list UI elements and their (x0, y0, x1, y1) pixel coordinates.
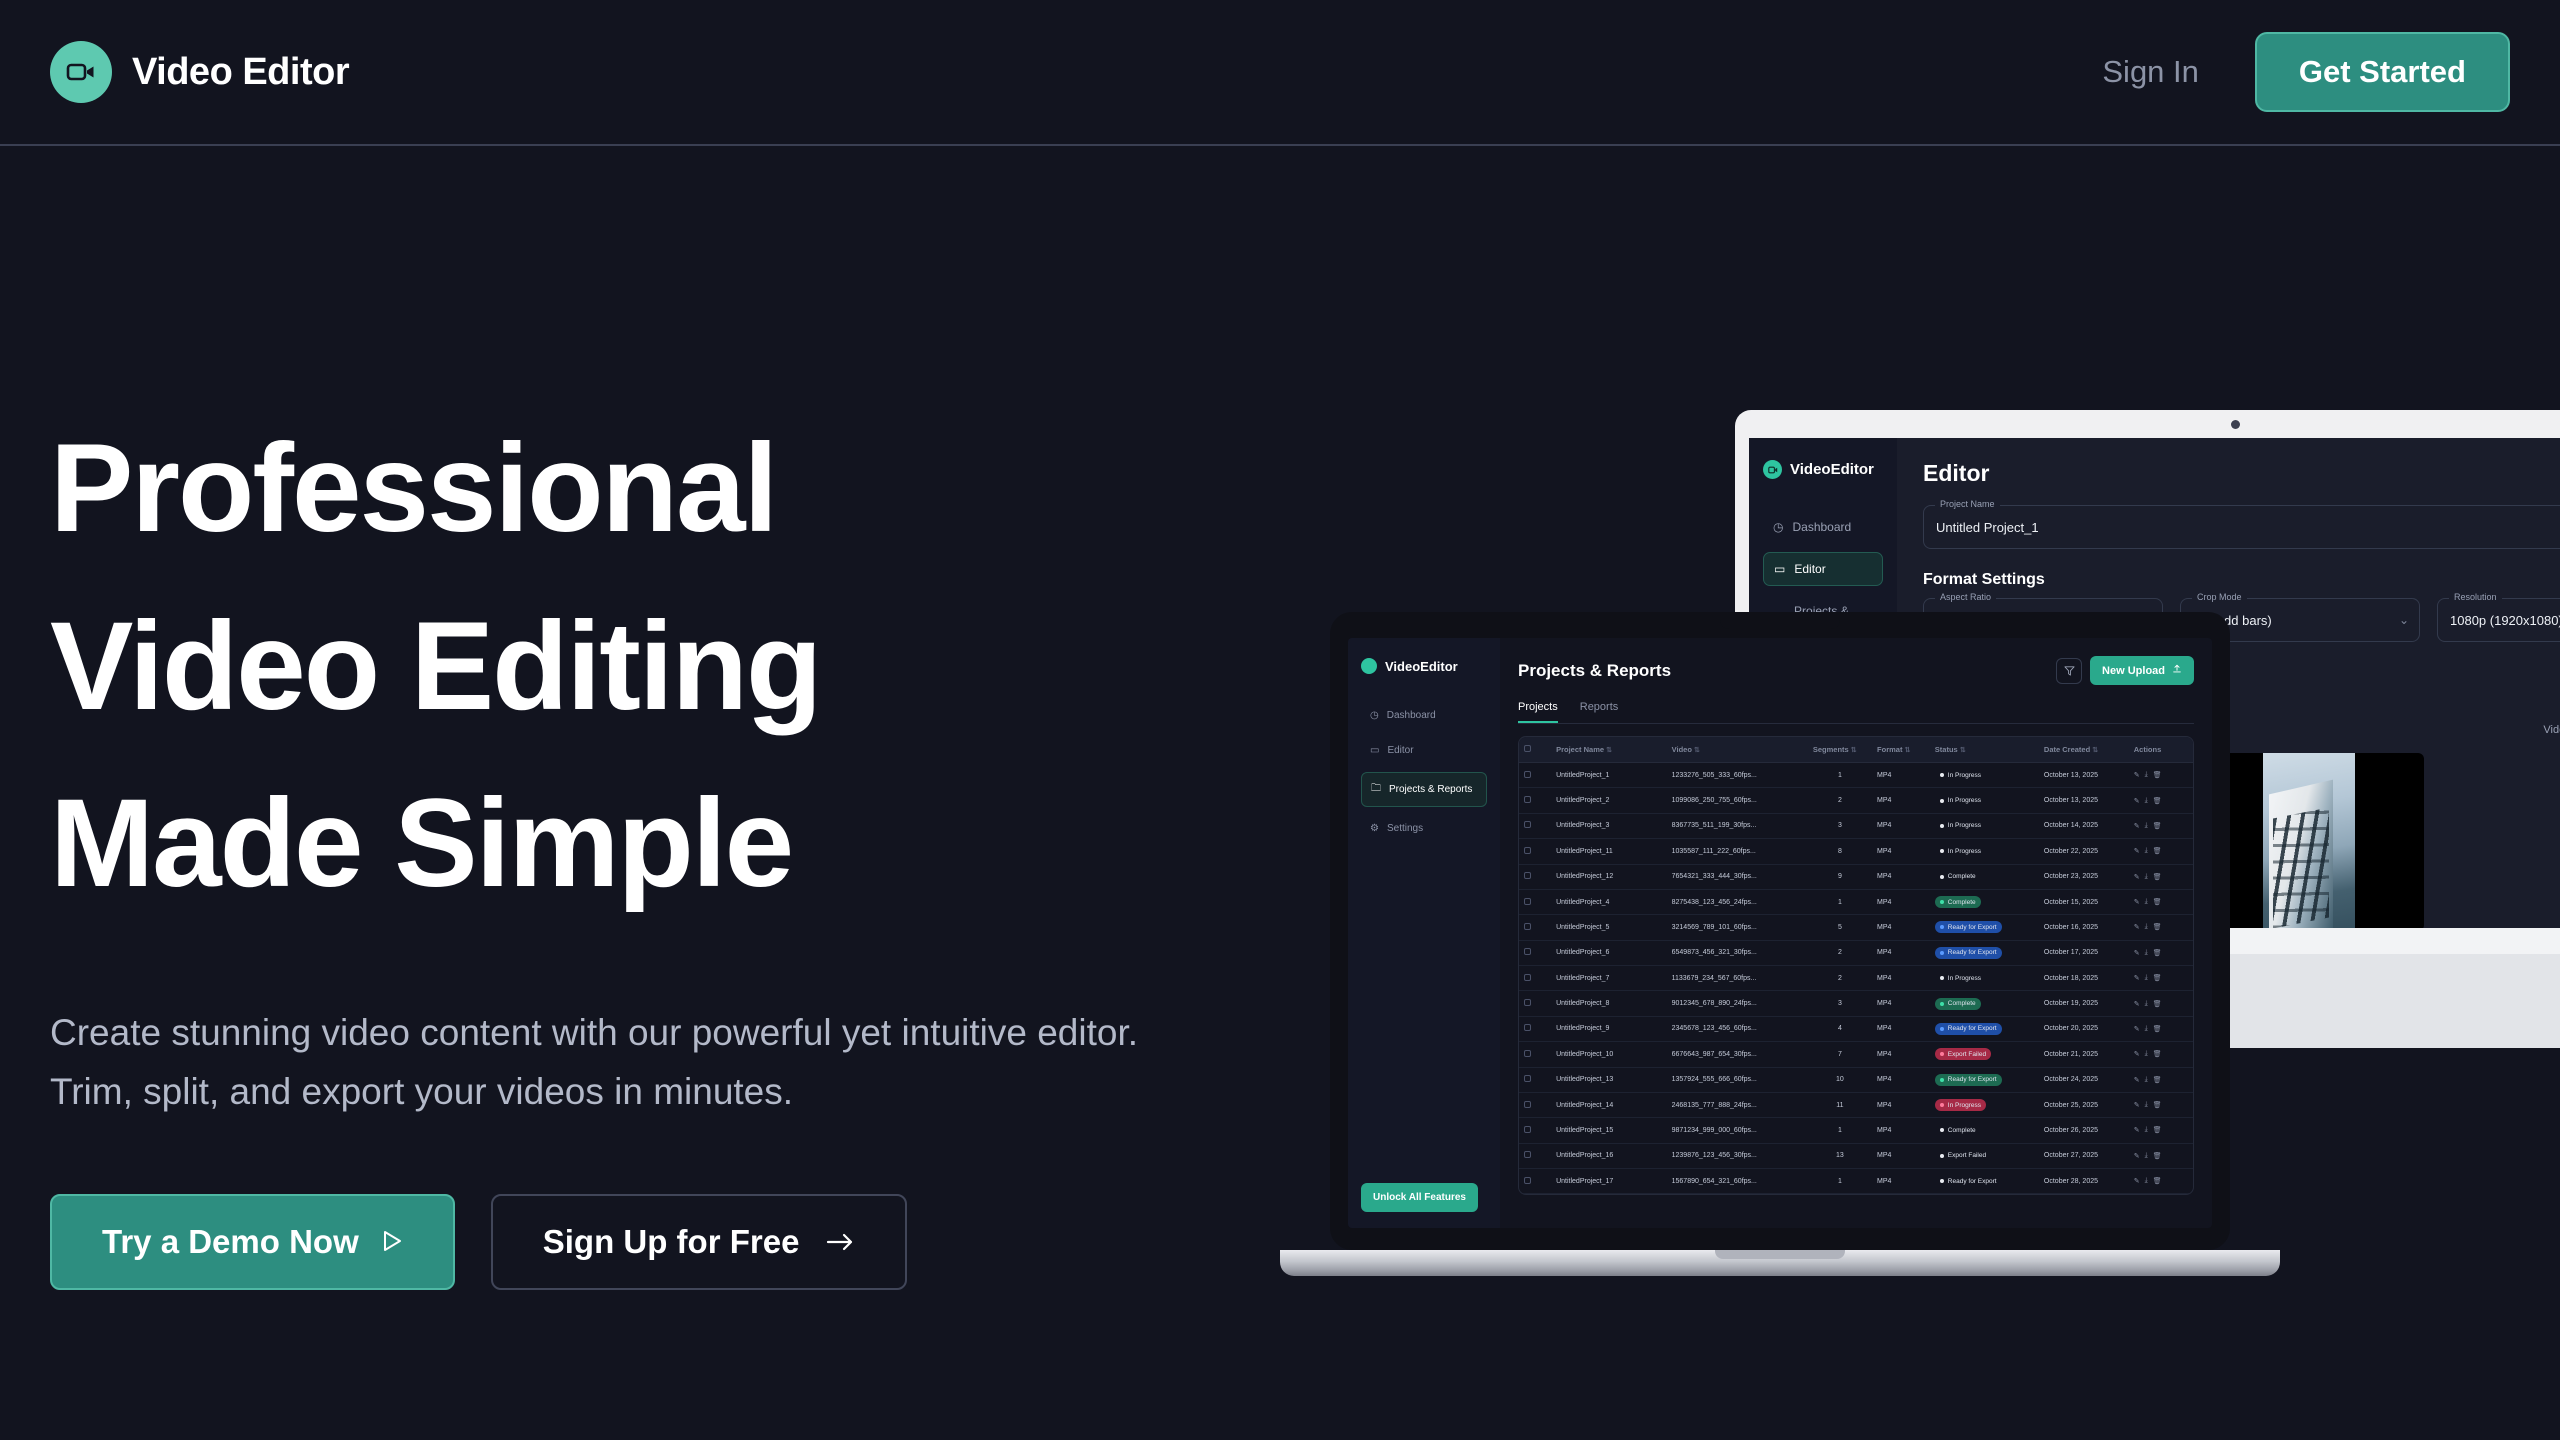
select-all-checkbox[interactable] (1524, 745, 1531, 752)
table-row[interactable]: UntitledProject_71133679_234_567_60fps..… (1519, 966, 2193, 991)
hero-cta-group: Try a Demo Now Sign Up for Free (50, 1194, 1150, 1290)
resolution-select[interactable]: Resolution 1080p (1920x1080) ⌄ (2437, 598, 2560, 642)
laptop-base (1280, 1250, 2280, 1276)
row-checkbox[interactable] (1524, 1126, 1531, 1133)
cell-format: MP4 (1872, 1042, 1930, 1067)
cell-format: MP4 (1872, 966, 1930, 991)
cell-actions: ✎⤓🗑 (2129, 1042, 2193, 1067)
select-all-checkbox-header[interactable] (1519, 737, 1551, 763)
video-camera-icon: ▭ (1370, 745, 1379, 756)
table-row[interactable]: UntitledProject_66549873_456_321_30fps..… (1519, 940, 2193, 965)
play-triangle-icon (381, 1223, 403, 1261)
sort-icon[interactable]: ⇅ (1606, 747, 1612, 754)
cell-video: 1567890_654_321_60fps... (1667, 1169, 1808, 1194)
cell-actions: ✎⤓🗑 (2129, 1143, 2193, 1168)
status-badge: Ready for Export (1935, 1023, 2002, 1035)
edit-icon[interactable]: ✎ (2134, 1076, 2140, 1084)
row-checkbox-cell[interactable] (1519, 889, 1551, 914)
download-icon[interactable]: ⤓ (2145, 1101, 2148, 1109)
download-icon[interactable]: ⤓ (2145, 898, 2148, 906)
cell-format: MP4 (1872, 1143, 1930, 1168)
table-row[interactable]: UntitledProject_106676643_987_654_30fps.… (1519, 1042, 2193, 1067)
cell-project-name: UntitledProject_17 (1551, 1169, 1667, 1194)
status-badge: Ready for Export (1935, 921, 2002, 933)
download-icon[interactable]: ⤓ (2145, 847, 2148, 855)
download-icon[interactable]: ⤓ (2145, 949, 2148, 957)
project-name-label: Project Name (1935, 499, 2000, 509)
download-icon[interactable]: ⤓ (2145, 797, 2148, 805)
sort-icon[interactable]: ⇅ (1960, 747, 1966, 754)
edit-icon[interactable]: ✎ (2134, 822, 2140, 830)
table-row[interactable]: UntitledProject_161239876_123_456_30fps.… (1519, 1143, 2193, 1168)
product-mockup-stage: VideoEditor ◷ Dashboard ▭ Editor 🗀 Proje… (1330, 380, 2560, 1280)
status-dot-icon (1940, 1002, 1944, 1006)
delete-icon[interactable]: 🗑 (2153, 949, 2162, 957)
cell-status: Complete (1930, 864, 2039, 889)
sign-up-free-button[interactable]: Sign Up for Free (491, 1194, 908, 1290)
cell-format: MP4 (1872, 1118, 1930, 1143)
cell-date-created: October 13, 2025 (2039, 763, 2129, 788)
sign-in-link[interactable]: Sign In (2102, 54, 2199, 90)
cell-status: In Progress (1930, 813, 2039, 838)
delete-icon[interactable]: 🗑 (2153, 1152, 2162, 1160)
delete-icon[interactable]: 🗑 (2153, 1000, 2162, 1008)
projects-main-panel: Projects & Reports New Upload (1500, 638, 2212, 1228)
cell-video: 1099086_250_755_60fps... (1667, 788, 1808, 813)
status-dot-icon (1940, 1078, 1944, 1082)
chevron-down-icon: ⌄ (2399, 613, 2409, 627)
edit-icon[interactable]: ✎ (2134, 1025, 2140, 1033)
cell-actions: ✎⤓🗑 (2129, 915, 2193, 940)
delete-icon[interactable]: 🗑 (2153, 822, 2162, 830)
cell-status: Ready for Export (1930, 1016, 2039, 1041)
cell-video: 1133679_234_567_60fps... (1667, 966, 1808, 991)
cell-format: MP4 (1872, 1092, 1930, 1117)
sidebar-item-dashboard[interactable]: ◷ Dashboard (1361, 702, 1487, 729)
edit-icon[interactable]: ✎ (2134, 771, 2140, 779)
cell-segments: 2 (1808, 966, 1872, 991)
edit-icon[interactable]: ✎ (2134, 847, 2140, 855)
crop-mode-label: Crop Mode (2192, 592, 2247, 602)
cell-segments: 1 (1808, 1118, 1872, 1143)
table-row[interactable]: UntitledProject_21099086_250_755_60fps..… (1519, 788, 2193, 813)
delete-icon[interactable]: 🗑 (2153, 898, 2162, 906)
cell-actions: ✎⤓🗑 (2129, 1169, 2193, 1194)
status-badge: In Progress (1935, 845, 1986, 857)
cell-format: MP4 (1872, 839, 1930, 864)
video-player-size-control[interactable]: Video player size (2543, 724, 2560, 736)
edit-icon[interactable]: ✎ (2134, 1050, 2140, 1058)
header-actions: Sign In Get Started (2102, 32, 2510, 112)
cell-actions: ✎⤓🗑 (2129, 864, 2193, 889)
projects-tabs: Projects Reports (1518, 701, 2194, 724)
cell-project-name: UntitledProject_3 (1551, 813, 1667, 838)
row-checkbox-cell[interactable] (1519, 1067, 1551, 1092)
edit-icon[interactable]: ✎ (2134, 1152, 2140, 1160)
unlock-all-features-button[interactable]: Unlock All Features (1361, 1183, 1478, 1212)
row-checkbox[interactable] (1524, 1101, 1531, 1108)
column-header-actions[interactable]: Actions (2129, 737, 2193, 763)
cell-date-created: October 17, 2025 (2039, 940, 2129, 965)
cell-actions: ✎⤓🗑 (2129, 991, 2193, 1016)
sort-icon[interactable]: ⇅ (1694, 747, 1700, 754)
sidebar-item-dashboard[interactable]: ◷ Dashboard (1763, 511, 1883, 543)
cell-actions: ✎⤓🗑 (2129, 889, 2193, 914)
cell-status: Complete (1930, 889, 2039, 914)
status-dot-icon (1940, 1128, 1944, 1132)
cell-date-created: October 16, 2025 (2039, 915, 2129, 940)
video-camera-icon (1361, 658, 1377, 674)
sidebar-item-editor[interactable]: ▭ Editor (1361, 737, 1487, 764)
download-icon[interactable]: ⤓ (2145, 923, 2148, 931)
cell-segments: 4 (1808, 1016, 1872, 1041)
row-checkbox-cell[interactable] (1519, 991, 1551, 1016)
cell-format: MP4 (1872, 940, 1930, 965)
delete-icon[interactable]: 🗑 (2153, 847, 2162, 855)
table-row[interactable]: UntitledProject_127654321_333_444_30fps.… (1519, 864, 2193, 889)
laptop-base-notch (1715, 1250, 1845, 1259)
row-checkbox-cell[interactable] (1519, 966, 1551, 991)
edit-icon[interactable]: ✎ (2134, 1101, 2140, 1109)
status-badge: Ready for Export (1935, 1074, 2002, 1086)
cell-format: MP4 (1872, 763, 1930, 788)
row-checkbox[interactable] (1524, 923, 1531, 930)
status-badge: Complete (1935, 871, 1981, 883)
row-checkbox-cell[interactable] (1519, 1042, 1551, 1067)
cell-project-name: UntitledProject_15 (1551, 1118, 1667, 1143)
delete-icon[interactable]: 🗑 (2153, 1101, 2162, 1109)
table-row[interactable]: UntitledProject_159871234_999_000_60fps.… (1519, 1118, 2193, 1143)
table-row[interactable]: UntitledProject_92345678_123_456_60fps..… (1519, 1016, 2193, 1041)
sort-icon[interactable]: ⇅ (1905, 747, 1911, 754)
download-icon[interactable]: ⤓ (2145, 974, 2148, 982)
cell-video: 1239876_123_456_30fps... (1667, 1143, 1808, 1168)
cell-project-name: UntitledProject_7 (1551, 966, 1667, 991)
cell-segments: 1 (1808, 1169, 1872, 1194)
table-row[interactable]: UntitledProject_131357924_555_666_60fps.… (1519, 1067, 2193, 1092)
cell-format: MP4 (1872, 915, 1930, 940)
table-row[interactable]: UntitledProject_89012345_678_890_24fps..… (1519, 991, 2193, 1016)
cell-project-name: UntitledProject_4 (1551, 889, 1667, 914)
hero-subtitle: Create stunning video content with our p… (50, 1003, 1150, 1123)
folder-icon: 🗀 (1371, 781, 1381, 798)
cell-actions: ✎⤓🗑 (2129, 1118, 2193, 1143)
sidebar-item-label: Projects & Reports (1389, 784, 1472, 795)
cell-video: 2468135_777_888_24fps... (1667, 1092, 1808, 1117)
column-header-project-name[interactable]: Project Name ⇅ (1551, 737, 1667, 763)
cell-actions: ✎⤓🗑 (2129, 813, 2193, 838)
delete-icon[interactable]: 🗑 (2153, 1126, 2162, 1134)
status-dot-icon (1940, 976, 1944, 980)
cell-status: Complete (1930, 1118, 2039, 1143)
edit-icon[interactable]: ✎ (2134, 1126, 2140, 1134)
row-checkbox[interactable] (1524, 771, 1531, 778)
download-icon[interactable]: ⤓ (2145, 1126, 2148, 1134)
projects-toolbar: New Upload (2056, 656, 2194, 685)
row-checkbox-cell[interactable] (1519, 788, 1551, 813)
status-dot-icon (1940, 1179, 1944, 1183)
cell-actions: ✎⤓🗑 (2129, 1016, 2193, 1041)
delete-icon[interactable]: 🗑 (2153, 873, 2162, 881)
delete-icon[interactable]: 🗑 (2153, 1050, 2162, 1058)
edit-icon[interactable]: ✎ (2134, 1177, 2140, 1185)
cell-video: 9871234_999_000_60fps... (1667, 1118, 1808, 1143)
table-row[interactable]: UntitledProject_11233276_505_333_60fps..… (1519, 763, 2193, 788)
tab-projects[interactable]: Projects (1518, 701, 1558, 723)
aspect-ratio-label: Aspect Ratio (1935, 592, 1996, 602)
cell-actions: ✎⤓🗑 (2129, 763, 2193, 788)
project-name-field[interactable]: Project Name Untitled Project_1 (1923, 505, 2560, 549)
table-row[interactable]: UntitledProject_111035587_111_222_60fps.… (1519, 839, 2193, 864)
cell-video: 9012345_678_890_24fps... (1667, 991, 1808, 1016)
get-started-button[interactable]: Get Started (2255, 32, 2510, 112)
laptop-lid: VideoEditor ◷ Dashboard ▭ Editor 🗀 Proje… (1330, 612, 2230, 1250)
cell-segments: 11 (1808, 1092, 1872, 1117)
cell-date-created: October 14, 2025 (2039, 813, 2129, 838)
sort-icon[interactable]: ⇅ (2092, 747, 2098, 754)
cell-date-created: October 20, 2025 (2039, 1016, 2129, 1041)
delete-icon[interactable]: 🗑 (2153, 797, 2162, 805)
cell-format: MP4 (1872, 1067, 1930, 1092)
table-row[interactable]: UntitledProject_38367735_511_199_30fps..… (1519, 813, 2193, 838)
gear-icon: ⚙ (1370, 823, 1379, 834)
editor-app-logo: VideoEditor (1763, 460, 1883, 479)
download-icon[interactable]: ⤓ (2145, 1177, 2148, 1185)
column-header-video[interactable]: Video ⇅ (1667, 737, 1808, 763)
cell-segments: 3 (1808, 813, 1872, 838)
row-checkbox-cell[interactable] (1519, 1118, 1551, 1143)
cell-format: MP4 (1872, 813, 1930, 838)
status-badge: Complete (1935, 998, 1981, 1010)
upload-icon (2172, 664, 2182, 677)
page-title: Professional Video Editing Made Simple (50, 400, 1150, 933)
sidebar-item-label: Editor (1794, 562, 1825, 576)
cell-video: 1357924_555_666_60fps... (1667, 1067, 1808, 1092)
cell-date-created: October 21, 2025 (2039, 1042, 2129, 1067)
cell-format: MP4 (1872, 788, 1930, 813)
cell-project-name: UntitledProject_1 (1551, 763, 1667, 788)
cell-video: 2345678_123_456_60fps... (1667, 1016, 1808, 1041)
filter-icon[interactable] (2056, 658, 2082, 684)
cell-format: MP4 (1872, 1169, 1930, 1194)
cell-date-created: October 19, 2025 (2039, 991, 2129, 1016)
status-dot-icon (1940, 925, 1944, 929)
row-checkbox-cell[interactable] (1519, 864, 1551, 889)
cell-status: In Progress (1930, 1092, 2039, 1117)
table-row[interactable]: UntitledProject_53214569_789_101_60fps..… (1519, 915, 2193, 940)
row-checkbox-cell[interactable] (1519, 1169, 1551, 1194)
sign-up-label: Sign Up for Free (543, 1223, 800, 1261)
cell-date-created: October 23, 2025 (2039, 864, 2129, 889)
table-header-row: Project Name ⇅Video ⇅Segments ⇅Format ⇅S… (1519, 737, 2193, 763)
hero-title-line-2: Video Editing (50, 578, 1150, 756)
cell-date-created: October 28, 2025 (2039, 1169, 2129, 1194)
table-row[interactable]: UntitledProject_171567890_654_321_60fps.… (1519, 1169, 2193, 1194)
sidebar-item-label: Dashboard (1387, 710, 1436, 721)
cell-segments: 10 (1808, 1067, 1872, 1092)
delete-icon[interactable]: 🗑 (2153, 1076, 2162, 1084)
sidebar-item-settings[interactable]: ⚙ Settings (1361, 815, 1487, 842)
cell-project-name: UntitledProject_13 (1551, 1067, 1667, 1092)
row-checkbox[interactable] (1524, 898, 1531, 905)
row-checkbox-cell[interactable] (1519, 1016, 1551, 1041)
sidebar-item-label: Settings (1387, 823, 1423, 834)
row-checkbox-cell[interactable] (1519, 839, 1551, 864)
edit-icon[interactable]: ✎ (2134, 797, 2140, 805)
try-demo-label: Try a Demo Now (102, 1223, 359, 1261)
download-icon[interactable]: ⤓ (2145, 873, 2148, 881)
row-checkbox[interactable] (1524, 1151, 1531, 1158)
status-badge: Complete (1935, 896, 1981, 908)
status-badge: In Progress (1935, 972, 1986, 984)
column-header-date-created[interactable]: Date Created ⇅ (2039, 737, 2129, 763)
status-badge: Ready for Export (1935, 1175, 2002, 1187)
cell-format: MP4 (1872, 1016, 1930, 1041)
cell-status: Export Failed (1930, 1042, 2039, 1067)
edit-icon[interactable]: ✎ (2134, 873, 2140, 881)
download-icon[interactable]: ⤓ (2145, 1076, 2148, 1084)
row-checkbox-cell[interactable] (1519, 1143, 1551, 1168)
download-icon[interactable]: ⤓ (2145, 771, 2148, 779)
row-checkbox[interactable] (1524, 1024, 1531, 1031)
download-icon[interactable]: ⤓ (2145, 1152, 2148, 1160)
cell-segments: 1 (1808, 763, 1872, 788)
download-icon[interactable]: ⤓ (2145, 1000, 2148, 1008)
delete-icon[interactable]: 🗑 (2153, 923, 2162, 931)
row-checkbox[interactable] (1524, 847, 1531, 854)
cell-segments: 9 (1808, 864, 1872, 889)
download-icon[interactable]: ⤓ (2145, 1025, 2148, 1033)
cell-status: In Progress (1930, 966, 2039, 991)
delete-icon[interactable]: 🗑 (2153, 1177, 2162, 1185)
cell-project-name: UntitledProject_2 (1551, 788, 1667, 813)
cell-project-name: UntitledProject_11 (1551, 839, 1667, 864)
row-checkbox-cell[interactable] (1519, 1092, 1551, 1117)
cell-segments: 2 (1808, 788, 1872, 813)
cell-segments: 8 (1808, 839, 1872, 864)
row-checkbox[interactable] (1524, 796, 1531, 803)
status-dot-icon (1940, 849, 1944, 853)
column-header-format[interactable]: Format ⇅ (1872, 737, 1930, 763)
cell-status: In Progress (1930, 788, 2039, 813)
video-camera-icon: ▭ (1774, 562, 1785, 576)
hero-title-line-3: Made Simple (50, 755, 1150, 933)
cell-status: In Progress (1930, 763, 2039, 788)
laptop-mockup: VideoEditor ◷ Dashboard ▭ Editor 🗀 Proje… (1330, 612, 2330, 1276)
status-badge: Export Failed (1935, 1048, 1991, 1060)
row-checkbox[interactable] (1524, 948, 1531, 955)
status-dot-icon (1940, 951, 1944, 955)
sort-icon[interactable]: ⇅ (1851, 747, 1857, 754)
cell-status: Export Failed (1930, 1143, 2039, 1168)
cell-status: Ready for Export (1930, 940, 2039, 965)
cell-actions: ✎⤓🗑 (2129, 1067, 2193, 1092)
row-checkbox[interactable] (1524, 974, 1531, 981)
laptop-screen: VideoEditor ◷ Dashboard ▭ Editor 🗀 Proje… (1348, 638, 2212, 1228)
projects-table: Project Name ⇅Video ⇅Segments ⇅Format ⇅S… (1518, 736, 2194, 1195)
cell-status: Complete (1930, 991, 2039, 1016)
video-player-size-label: Video player size (2543, 724, 2560, 736)
projects-page-title: Projects & Reports (1518, 661, 1671, 681)
row-checkbox[interactable] (1524, 1075, 1531, 1082)
status-badge: In Progress (1935, 820, 1986, 832)
row-checkbox[interactable] (1524, 821, 1531, 828)
row-checkbox[interactable] (1524, 1177, 1531, 1184)
gauge-icon: ◷ (1370, 710, 1379, 721)
cell-video: 6676643_987_654_30fps... (1667, 1042, 1808, 1067)
cell-video: 7654321_333_444_30fps... (1667, 864, 1808, 889)
projects-app-name: VideoEditor (1385, 659, 1458, 674)
edit-icon[interactable]: ✎ (2134, 974, 2140, 982)
row-checkbox-cell[interactable] (1519, 940, 1551, 965)
row-checkbox-cell[interactable] (1519, 763, 1551, 788)
cell-project-name: UntitledProject_12 (1551, 864, 1667, 889)
gauge-icon: ◷ (1773, 520, 1783, 534)
cell-actions: ✎⤓🗑 (2129, 940, 2193, 965)
column-header-status[interactable]: Status ⇅ (1930, 737, 2039, 763)
cell-project-name: UntitledProject_16 (1551, 1143, 1667, 1168)
cell-segments: 5 (1808, 915, 1872, 940)
download-icon[interactable]: ⤓ (2145, 822, 2148, 830)
status-badge: Ready for Export (1935, 947, 2002, 959)
table-row[interactable]: UntitledProject_142468135_777_888_24fps.… (1519, 1092, 2193, 1117)
cell-status: In Progress (1930, 839, 2039, 864)
cell-video: 1233276_505_333_60fps... (1667, 763, 1808, 788)
row-checkbox[interactable] (1524, 872, 1531, 879)
column-header-segments[interactable]: Segments ⇅ (1808, 737, 1872, 763)
edit-icon[interactable]: ✎ (2134, 898, 2140, 906)
cell-actions: ✎⤓🗑 (2129, 839, 2193, 864)
row-checkbox[interactable] (1524, 999, 1531, 1006)
edit-icon[interactable]: ✎ (2134, 1000, 2140, 1008)
sidebar-item-label: Dashboard (1792, 520, 1851, 534)
table-row[interactable]: UntitledProject_48275438_123_456_24fps..… (1519, 889, 2193, 914)
sidebar-item-projects-reports[interactable]: 🗀 Projects & Reports (1361, 772, 1487, 807)
download-icon[interactable]: ⤓ (2145, 1050, 2148, 1058)
new-upload-button[interactable]: New Upload (2090, 656, 2194, 685)
row-checkbox-cell[interactable] (1519, 813, 1551, 838)
editor-page-title: Editor (1923, 460, 2560, 487)
row-checkbox-cell[interactable] (1519, 915, 1551, 940)
cell-date-created: October 25, 2025 (2039, 1092, 2129, 1117)
cell-date-created: October 18, 2025 (2039, 966, 2129, 991)
format-settings-heading: Format Settings (1923, 571, 2560, 589)
delete-icon[interactable]: 🗑 (2153, 1025, 2162, 1033)
status-dot-icon (1940, 1103, 1944, 1107)
delete-icon[interactable]: 🗑 (2153, 974, 2162, 982)
tab-reports[interactable]: Reports (1580, 701, 1619, 723)
row-checkbox[interactable] (1524, 1050, 1531, 1057)
cell-date-created: October 13, 2025 (2039, 788, 2129, 813)
sidebar-item-editor[interactable]: ▭ Editor (1763, 552, 1883, 586)
edit-icon[interactable]: ✎ (2134, 923, 2140, 931)
status-dot-icon (1940, 824, 1944, 828)
status-badge: In Progress (1935, 769, 1986, 781)
brand-logo-group[interactable]: Video Editor (50, 41, 349, 103)
status-badge: In Progress (1935, 795, 1986, 807)
status-dot-icon (1940, 1052, 1944, 1056)
cell-video: 8275438_123_456_24fps... (1667, 889, 1808, 914)
cell-segments: 13 (1808, 1143, 1872, 1168)
delete-icon[interactable]: 🗑 (2153, 771, 2162, 779)
try-demo-button[interactable]: Try a Demo Now (50, 1194, 455, 1290)
cell-format: MP4 (1872, 889, 1930, 914)
project-name-value: Untitled Project_1 (1936, 520, 2039, 535)
edit-icon[interactable]: ✎ (2134, 949, 2140, 957)
cell-project-name: UntitledProject_14 (1551, 1092, 1667, 1117)
cell-actions: ✎⤓🗑 (2129, 1092, 2193, 1117)
video-camera-icon (1763, 460, 1782, 479)
